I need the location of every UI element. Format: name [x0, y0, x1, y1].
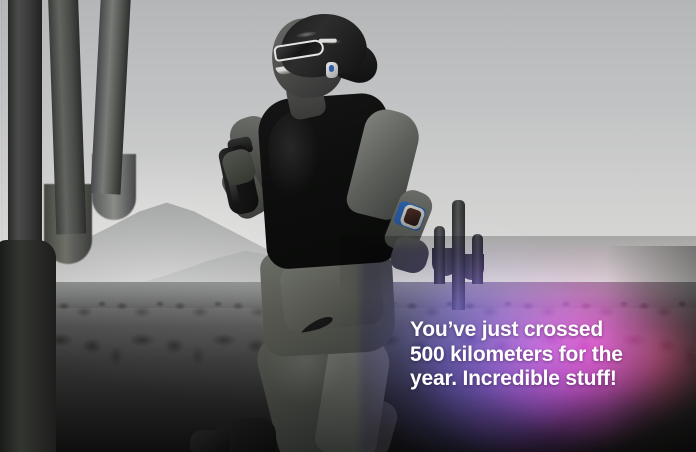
tank-top-highlight [266, 105, 353, 240]
running-achievement-banner: You’ve just crossed 500 kilometers for t… [0, 0, 696, 452]
foreground-dark-object-secondary [190, 430, 230, 452]
earbud-indicator-light [329, 65, 334, 72]
achievement-message: You’ve just crossed 500 kilometers for t… [410, 318, 682, 392]
sunglasses-temple-arm [319, 39, 337, 43]
cactus-base-foreground [0, 240, 56, 452]
sunglasses-lens [273, 39, 325, 63]
